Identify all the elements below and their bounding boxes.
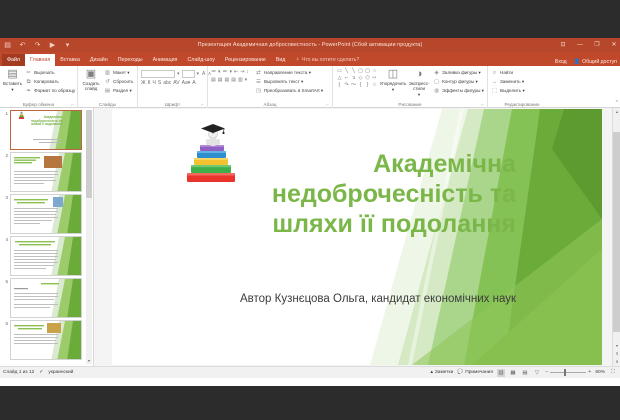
replace-icon: ↔ (491, 78, 498, 86)
close-icon[interactable]: ✕ (610, 42, 618, 48)
share-label: Общий доступ (582, 59, 617, 65)
select-icon: ⬚ (491, 87, 498, 95)
thumbnail-graphic (11, 279, 82, 318)
clipboard-group-title: Буфер обмена ⌐ (3, 101, 74, 108)
decrease-indent-icon[interactable]: ⇤ (234, 69, 238, 75)
convert-smartart-button[interactable]: ◳ Преобразовать в SmartArt ▾ (255, 87, 323, 95)
font-size-input[interactable] (182, 70, 195, 78)
shape-outline-button[interactable]: ▢ Контур фигуры ▾ (433, 78, 484, 86)
notes-label: Заметки (435, 370, 453, 375)
reset-button[interactable]: ↺ Сбросить (104, 78, 133, 86)
replace-button[interactable]: ↔ Заменить ▾ (491, 78, 525, 86)
thumbnail-slide-4[interactable]: 4 (2, 236, 83, 276)
shadow-icon[interactable]: S (158, 80, 161, 86)
strikethrough-icon[interactable]: abc (163, 80, 171, 86)
slides-title-text: Слайды (99, 102, 116, 107)
align-text-icon: ☰ (255, 78, 262, 86)
shape-curve-icon[interactable]: ↴ (350, 75, 357, 82)
ribbon-group-drawing: ▭ ╲ ╲ ▢ ▢ ○ △ ⌐ ↴ ◇ ⬠ ⇨ ⁅ ↷ 〜 (333, 66, 488, 108)
shape-rounded-icon[interactable]: ▢ (364, 68, 371, 75)
thumbnail-slide-3[interactable]: 3 (2, 194, 83, 234)
tab-insert[interactable]: Вставка (55, 54, 85, 66)
clipboard-title-text: Буфер обмена (23, 102, 54, 107)
work-area: 1 (0, 108, 620, 366)
reading-view-button[interactable]: ▤ (521, 369, 529, 377)
font-size-caret-icon[interactable]: ▾ (196, 71, 201, 77)
text-direction-button[interactable]: ⇄ Направление текста ▾ (255, 69, 323, 77)
format-painter-button[interactable]: ❧ Формат по образцу (25, 87, 75, 95)
slide-counter[interactable]: Слайд 1 из 12 (3, 370, 34, 375)
reset-icon: ↺ (104, 78, 111, 86)
shape-square-icon[interactable]: ▢ (357, 68, 364, 75)
status-left: Слайд 1 из 12 ✓ украинский (3, 370, 73, 375)
italic-icon[interactable]: К (148, 80, 151, 86)
thumbnail-graphic (11, 195, 82, 234)
status-bar: Слайд 1 из 12 ✓ украинский ▴ Заметки 💬 П… (0, 366, 620, 378)
brush-icon: ❧ (25, 87, 32, 95)
slide-counter-text: Слайд 1 из 12 (3, 370, 34, 375)
shape-freeform-icon[interactable]: ↷ (343, 82, 350, 89)
reset-label: Сбросить (113, 78, 133, 86)
window-title: Презентация Академичная добросовестность… (0, 38, 620, 52)
thumbnail-scrollbar[interactable]: ▾ (86, 110, 92, 364)
thumbnail-frame: Академічна недоброчесність та шляхи її п… (10, 110, 82, 150)
select-label: Выделить ▾ (500, 87, 525, 95)
normal-view-button[interactable]: ▥ (497, 369, 505, 377)
powerpoint-window: ▤ ↶ ↷ ▶ ▾ Презентация Академичная доброс… (0, 0, 620, 420)
font-family-caret-icon[interactable]: ▾ (176, 71, 181, 77)
desktop-backdrop-bottom (0, 386, 620, 420)
shape-arrow-icon[interactable]: ╲ (350, 68, 357, 75)
thumbnail-number: 3 (2, 194, 8, 234)
underline-icon[interactable]: Ч (153, 80, 156, 86)
shape-fill-icon: ◈ (433, 69, 440, 77)
ribbon-group-slides: ▣ Создать слайд ▥ Макет ▾ ↺ Сбросить (78, 66, 138, 108)
previous-slide-icon[interactable]: ⇞ (613, 350, 620, 358)
tab-review[interactable]: Рецензирование (220, 54, 271, 66)
ribbon-tab-bar: Файл Главная Вставка Дизайн Переходы Ани… (0, 52, 620, 66)
arrange-icon: ◫ (388, 69, 398, 80)
slide-sorter-button[interactable]: ▦ (509, 369, 517, 377)
ribbon-group-editing: ⌕ Найти ↔ Заменить ▾ ⬚ Выделить ▾ (488, 66, 556, 108)
fit-to-window-icon[interactable]: ⛶ (609, 369, 617, 377)
tab-home[interactable]: Главная (25, 54, 55, 66)
ribbon-group-clipboard: ▤ Вставить ▾ ✂ Вырезать ⧉ Копировать (0, 66, 78, 108)
find-button[interactable]: ⌕ Найти (491, 69, 525, 77)
ribbon-display-options-icon[interactable]: ⊡ (559, 42, 567, 48)
scroll-down-icon[interactable]: ▾ (613, 342, 620, 350)
thumbnail-frame (10, 236, 82, 276)
new-slide-button[interactable]: ▣ Создать слайд (81, 68, 101, 91)
application-window: ▤ ↶ ↷ ▶ ▾ Презентация Академичная доброс… (0, 38, 620, 386)
shape-outline-label: Контур фигуры ▾ (442, 78, 478, 86)
copy-button[interactable]: ⧉ Копировать (25, 78, 75, 86)
replace-label: Заменить ▾ (500, 78, 524, 86)
slide-editor-pane: Академічна недоброчесність та шляхи її п… (94, 108, 620, 366)
thumbnail-number: 2 (2, 152, 8, 192)
paragraph-dialog-launcher-icon[interactable]: ⌐ (326, 101, 329, 108)
zoom-level[interactable]: 60% (595, 370, 605, 375)
font-family-input[interactable] (141, 70, 175, 78)
numbering-caret-icon[interactable]: ▾ (230, 69, 233, 75)
cut-label: Вырезать (34, 69, 54, 77)
font-color-icon[interactable]: A (192, 80, 195, 86)
restore-icon[interactable]: ❐ (593, 42, 601, 48)
shape-lbrace-icon[interactable]: { (357, 82, 364, 89)
current-slide[interactable]: Академічна недоброчесність та шляхи її п… (112, 109, 602, 365)
increase-indent-icon[interactable]: ⇥ (240, 69, 244, 75)
comments-label: Примечания (465, 370, 493, 375)
notes-button[interactable]: ▴ Заметки (430, 370, 453, 375)
thumbnail-scroll-down-icon[interactable]: ▾ (86, 358, 92, 364)
paragraph-group-title: Абзац ⌐ (211, 101, 329, 108)
account-area: Вход 👤 Общий доступ (555, 59, 617, 65)
thumbnail-title-text: Академічна недоброчесність та шляхи її п… (28, 116, 62, 127)
paste-label: Вставить (3, 81, 22, 86)
slide-title[interactable]: Академічна недоброчесність та шляхи її п… (216, 149, 516, 239)
arrange-button[interactable]: ◫ Упорядочить ▾ (381, 68, 405, 92)
title-bar: ▤ ↶ ↷ ▶ ▾ Презентация Академичная доброс… (0, 38, 620, 52)
font-group-title: Шрифт ⌐ (141, 101, 204, 108)
tab-transitions[interactable]: Переходы (113, 54, 148, 66)
thumbnail-slide-5[interactable]: 5 (2, 278, 83, 318)
paragraph-title-text: Абзац (264, 102, 277, 107)
ribbon: ▤ Вставить ▾ ✂ Вырезать ⧉ Копировать (0, 66, 620, 108)
thumbnail-slide-6[interactable]: 6 (2, 320, 83, 360)
minimize-icon[interactable]: — (576, 42, 584, 48)
slide-scrollbar-thumb[interactable] (613, 132, 620, 332)
zoom-knob[interactable] (564, 369, 566, 376)
shape-elbow-icon[interactable]: ⌐ (343, 75, 350, 82)
window-controls: ⊡ — ❐ ✕ (559, 38, 618, 52)
thumbnail-frame (10, 278, 82, 318)
arrange-caret-icon[interactable]: ▾ (392, 87, 394, 92)
thumbnail-slide-1[interactable]: 1 (2, 110, 83, 150)
layout-button[interactable]: ▥ Макет ▾ (104, 69, 133, 77)
cut-button[interactable]: ✂ Вырезать (25, 69, 75, 77)
font-title-text: Шрифт (165, 102, 180, 107)
tab-animations[interactable]: Анимация (148, 54, 183, 66)
zoom-track[interactable] (550, 372, 586, 373)
section-button[interactable]: ▤ Раздел ▾ (104, 87, 133, 95)
thumbnail-graphic (11, 153, 82, 192)
thumbnail-graphic (11, 237, 82, 276)
paste-icon: ▤ (7, 69, 17, 80)
arrange-label: Упорядочить (380, 81, 407, 86)
thumbnail-number: 4 (2, 236, 8, 276)
shape-star-icon[interactable]: ☆ (371, 82, 378, 89)
shape-oval-icon[interactable]: ○ (371, 68, 378, 75)
comment-icon: 💬 (457, 370, 463, 375)
language-text: украинский (48, 370, 73, 375)
person-icon: 👤 (574, 59, 580, 65)
align-left-icon[interactable]: ▤ (211, 77, 216, 83)
columns-icon[interactable]: ▥ (238, 77, 243, 83)
select-button[interactable]: ⬚ Выделить ▾ (491, 87, 525, 95)
align-text-button[interactable]: ☰ Выровнять текст ▾ (255, 78, 323, 86)
share-button[interactable]: 👤 Общий доступ (574, 59, 617, 65)
drawing-group-title: Рисование ⌐ (336, 101, 484, 108)
lightbulb-icon: ♀ (295, 57, 300, 63)
search-icon: ⌕ (491, 69, 498, 77)
convert-smartart-label: Преобразовать в SmartArt ▾ (264, 87, 323, 95)
shape-line-icon[interactable]: ╲ (343, 68, 350, 75)
line-spacing-icon[interactable]: ↕ (246, 69, 249, 75)
copy-icon: ⧉ (25, 78, 32, 86)
spellcheck-icon: ✓ (39, 370, 43, 375)
change-case-icon[interactable]: Aa▾ (182, 80, 191, 86)
status-right: ▴ Заметки 💬 Примечания ▥ ▦ ▤ ▽ − + (430, 369, 617, 377)
new-slide-icon: ▣ (86, 69, 96, 80)
next-slide-icon[interactable]: ⇟ (613, 358, 620, 366)
increase-font-icon[interactable]: A (201, 71, 206, 77)
shape-pentagon-icon[interactable]: ⬠ (364, 75, 371, 82)
shapes-gallery[interactable]: ▭ ╲ ╲ ▢ ▢ ○ △ ⌐ ↴ ◇ ⬠ ⇨ ⁅ ↷ 〜 (336, 68, 378, 89)
tab-design[interactable]: Дизайн (85, 54, 113, 66)
thumbnail-frame (10, 194, 82, 234)
thumbnail-frame (10, 320, 82, 360)
thumbnail-graphic (11, 321, 82, 360)
desktop-backdrop-top (0, 0, 620, 38)
find-label: Найти (500, 69, 513, 77)
quick-styles-label: Экспресс-стили (408, 81, 430, 91)
notes-icon: ▴ (430, 370, 432, 375)
thumbnail-canvas: Академічна недоброчесність та шляхи її п… (11, 111, 81, 149)
scroll-up-icon[interactable]: ▴ (613, 108, 620, 116)
tell-me-search[interactable]: ♀ Что вы хотите сделать? (290, 54, 364, 66)
editing-title-text: Редактирование (505, 102, 540, 107)
quick-styles-icon: ◑ (416, 69, 423, 80)
thumbnail-number: 6 (2, 320, 8, 360)
drawing-title-text: Рисование (398, 102, 421, 107)
paste-caret-icon[interactable]: ▾ (11, 87, 13, 92)
bullets-caret-icon[interactable]: ▾ (218, 69, 221, 75)
columns-caret-icon[interactable]: ▾ (245, 77, 248, 83)
shape-outline-icon: ▢ (433, 78, 440, 86)
tab-view[interactable]: Вид (271, 54, 291, 66)
tab-slideshow[interactable]: Слайд-шоу (182, 54, 219, 66)
slide-thumbnail-pane[interactable]: 1 (0, 108, 94, 366)
tell-me-placeholder: Что вы хотите сделать? (302, 57, 359, 63)
thumbnail-frame (10, 152, 82, 192)
zoom-out-button[interactable]: − (545, 370, 548, 376)
align-right-icon[interactable]: ▤ (224, 77, 229, 83)
shape-fill-button[interactable]: ◈ Заливка фигуры ▾ (433, 69, 484, 77)
shape-effects-label: Эффекты фигуры ▾ (442, 87, 484, 95)
shape-diamond-icon[interactable]: ◇ (357, 75, 364, 82)
justify-icon[interactable]: ▤ (231, 77, 236, 83)
ribbon-group-paragraph: ≔ ▾ ≕ ▾ ⇤ ⇥ ↕ ▤ ▤ ▤ ▤ (208, 66, 333, 108)
shape-fill-label: Заливка фигуры ▾ (442, 69, 481, 77)
text-direction-icon: ⇄ (255, 69, 262, 77)
clipboard-dialog-launcher-icon[interactable]: ⌐ (71, 101, 74, 108)
quick-styles-caret-icon[interactable]: ▾ (418, 92, 420, 97)
shape-scribble-icon[interactable]: 〜 (350, 82, 357, 89)
spellcheck-status[interactable]: ✓ (39, 370, 43, 375)
shape-rect-icon[interactable]: ▭ (336, 68, 343, 75)
shape-rbrace-icon[interactable]: } (364, 82, 371, 89)
section-icon: ▤ (104, 87, 111, 95)
shape-brace-icon[interactable]: ⁅ (336, 82, 343, 89)
collapse-ribbon-icon[interactable]: ^ (616, 100, 618, 106)
paste-button[interactable]: ▤ Вставить ▾ (3, 68, 22, 92)
quick-styles-button[interactable]: ◑ Экспресс-стили ▾ (408, 68, 430, 97)
sign-in-link[interactable]: Вход (555, 59, 567, 65)
section-label: Раздел ▾ (113, 87, 132, 95)
ribbon-group-font: ▾ ▾ A ᴀ Ж К Ч S abc AV Aa▾ A (138, 66, 208, 108)
layout-label: Макет ▾ (113, 69, 130, 77)
text-direction-label: Направление текста ▾ (264, 69, 311, 77)
numbering-icon[interactable]: ≕ (223, 69, 228, 75)
layout-icon: ▥ (104, 69, 111, 77)
shape-arrowblock-icon[interactable]: ⇨ (371, 75, 378, 82)
tab-file[interactable]: Файл (2, 54, 25, 66)
thumbnail-scrollbar-thumb[interactable] (86, 110, 92, 198)
slide-subtitle[interactable]: Автор Кузнєцова Ольга, кандидат економіч… (216, 291, 516, 307)
zoom-slider[interactable]: − + (545, 370, 591, 376)
thumbnail-number: 5 (2, 278, 8, 318)
slideshow-button[interactable]: ▽ (533, 369, 541, 377)
shape-effects-icon: ◍ (433, 87, 440, 95)
language-status[interactable]: украинский (48, 370, 73, 375)
slides-group-title: Слайды (81, 101, 134, 108)
thumbnail-number: 1 (2, 110, 8, 150)
align-text-label: Выровнять текст ▾ (264, 78, 303, 86)
slide-vertical-scrollbar[interactable]: ▴ ▾ ⇞ ⇟ (612, 108, 620, 366)
bold-icon[interactable]: Ж (141, 80, 146, 86)
shape-effects-button[interactable]: ◍ Эффекты фигуры ▾ (433, 87, 484, 95)
new-slide-label: Создать слайд (81, 81, 101, 91)
thumbnail-slide-2[interactable]: 2 (2, 152, 83, 192)
scissors-icon: ✂ (25, 69, 32, 77)
smartart-icon: ◳ (255, 87, 262, 95)
shape-triangle-icon[interactable]: △ (336, 75, 343, 82)
bullets-icon[interactable]: ≔ (211, 69, 216, 75)
comments-button[interactable]: 💬 Примечания (457, 370, 493, 375)
zoom-in-button[interactable]: + (588, 370, 591, 376)
drawing-dialog-launcher-icon[interactable]: ⌐ (481, 101, 484, 108)
character-spacing-icon[interactable]: AV (173, 80, 179, 86)
editing-group-title: Редактирование (491, 101, 553, 108)
align-center-icon[interactable]: ▤ (218, 77, 223, 83)
font-dialog-launcher-icon[interactable]: ⌐ (201, 101, 204, 108)
copy-label: Копировать (34, 78, 59, 86)
format-painter-label: Формат по образцу (34, 87, 75, 95)
